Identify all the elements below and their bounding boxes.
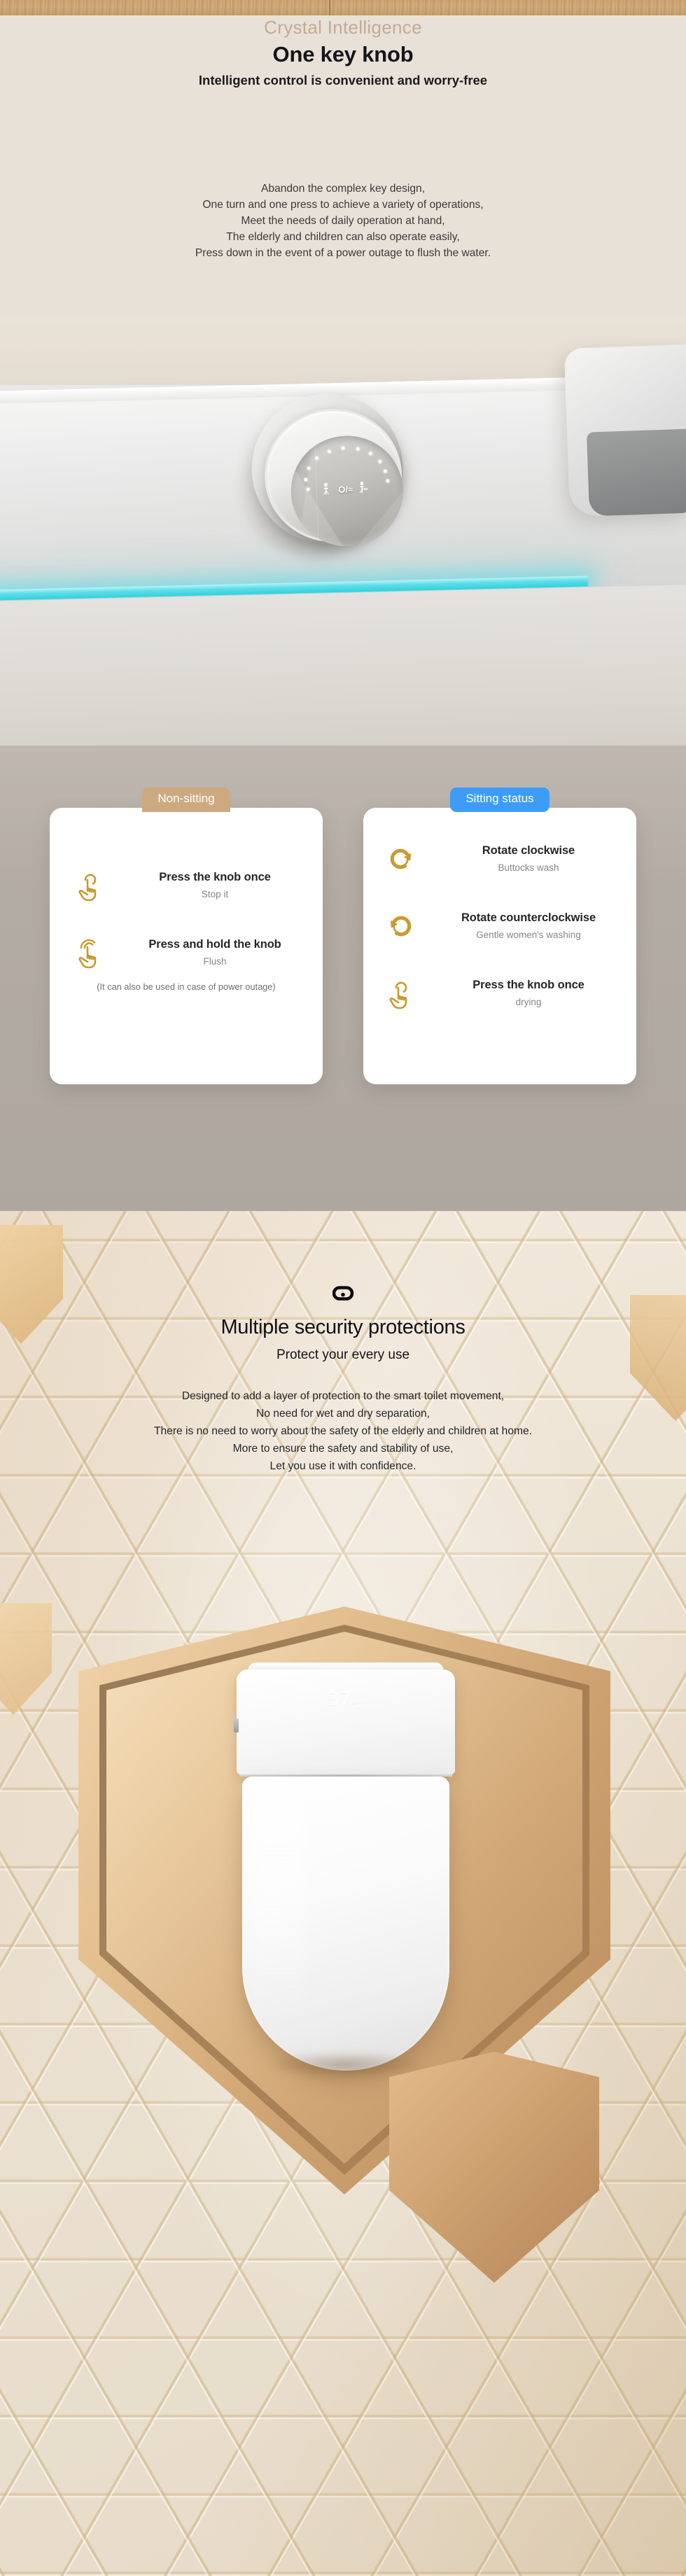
- knob-center-label: O/≈: [338, 484, 353, 495]
- press-and-hold-finger-icon: [68, 935, 113, 970]
- power-outage-note: (It can also be used in case of power ou…: [68, 981, 304, 992]
- security-section: Multiple security protections Protect yo…: [0, 1211, 686, 2576]
- wood-floor-strip: [0, 0, 686, 15]
- instruction-subtitle: drying: [436, 997, 621, 1007]
- paragraph-line: No need for wet and dry separation,: [0, 1405, 686, 1422]
- lower-wall: [0, 584, 686, 745]
- instruction-text: Press the knob once Stop it: [125, 871, 304, 899]
- instruction-text: Press and hold the knob Flush: [125, 938, 304, 967]
- paragraph-line: Abandon the complex key design,: [0, 181, 686, 197]
- knob-assembly[interactable]: O/≈: [220, 385, 415, 566]
- instruction-row: Rotate clockwise Buttocks wash: [379, 841, 621, 876]
- instruction-row: Press and hold the knob Flush: [68, 935, 304, 970]
- paragraph-line: One turn and one press to achieve a vari…: [0, 197, 686, 213]
- seated-person-spray-icon: [322, 482, 333, 497]
- eyebrow-text: Crystal Intelligence: [0, 17, 686, 38]
- instruction-title: Rotate counterclockwise: [436, 911, 621, 925]
- press-once-finger-icon: [68, 868, 113, 903]
- non-sitting-card-column: Non-sitting: [50, 787, 323, 1084]
- knob-led-dot: [307, 466, 311, 470]
- toilet-side-button[interactable]: [234, 1718, 239, 1732]
- seated-person-wash-icon: [358, 481, 372, 496]
- security-title: Multiple security protections: [0, 1316, 686, 1339]
- temperature-value: 37: [328, 1689, 353, 1710]
- knob-led-dot: [369, 451, 372, 455]
- knob-face[interactable]: O/≈: [289, 434, 405, 548]
- cards-row: Non-sitting: [0, 787, 686, 1084]
- temperature-display: 37℃: [237, 1689, 455, 1710]
- rotate-clockwise-icon: [379, 841, 423, 876]
- instruction-title: Press the knob once: [125, 871, 304, 884]
- instruction-subtitle: Gentle women's washing: [436, 930, 621, 940]
- press-once-finger-icon: [379, 976, 423, 1011]
- paragraph-line: Press down in the event of a power outag…: [0, 245, 686, 261]
- instruction-row: Press the knob once drying: [379, 976, 621, 1011]
- security-paragraph: Designed to add a layer of protection to…: [0, 1387, 686, 1475]
- toilet-body-panel-dark: [587, 428, 686, 516]
- paragraph-line: Let you use it with confidence.: [0, 1457, 686, 1475]
- smart-toilet: 37℃: [237, 1669, 455, 2089]
- instruction-row: Rotate counterclockwise Gentle women's w…: [379, 909, 621, 944]
- knob-product-photo: O/≈: [0, 318, 686, 745]
- instruction-title: Press the knob once: [436, 979, 621, 992]
- knob-section: Crystal Intelligence One key knob Intell…: [0, 0, 686, 1211]
- security-subtitle: Protect your every use: [0, 1347, 686, 1363]
- rotate-counterclockwise-icon: [379, 909, 423, 944]
- knob-chrome-ring: O/≈: [262, 407, 405, 545]
- toilet-tank: 37℃: [237, 1669, 455, 1774]
- sitting-status-badge: Sitting status: [450, 787, 549, 812]
- paragraph-line: More to ensure the safety and stability …: [0, 1440, 686, 1457]
- instruction-text: Press the knob once drying: [436, 979, 621, 1007]
- paragraph-line: The elderly and children can also operat…: [0, 229, 686, 245]
- instruction-subtitle: Stop it: [125, 889, 304, 899]
- instruction-row: Press the knob once Stop it: [68, 868, 304, 903]
- instruction-text: Rotate clockwise Buttocks wash: [436, 844, 621, 873]
- shield-illustration: 37℃: [78, 1606, 610, 2215]
- lock-icon: [0, 1284, 686, 1301]
- knob-section-paragraph: Abandon the complex key design, One turn…: [0, 181, 686, 261]
- sitting-status-card: Rotate clockwise Buttocks wash: [363, 808, 636, 1084]
- temperature-unit: ℃: [353, 1700, 363, 1710]
- product-page: Crystal Intelligence One key knob Intell…: [0, 0, 686, 2576]
- instruction-text: Rotate counterclockwise Gentle women's w…: [436, 911, 621, 940]
- non-sitting-card: Press the knob once Stop it: [50, 808, 323, 1084]
- paragraph-line: There is no need to worry about the safe…: [0, 1422, 686, 1440]
- instruction-subtitle: Buttocks wash: [436, 862, 621, 873]
- instruction-title: Press and hold the knob: [125, 938, 304, 951]
- paragraph-line: Meet the needs of daily operation at han…: [0, 213, 686, 229]
- toilet-gloss-highlight: [255, 1795, 304, 2026]
- non-sitting-badge: Non-sitting: [142, 787, 230, 812]
- instruction-title: Rotate clockwise: [436, 844, 621, 857]
- paragraph-line: Designed to add a layer of protection to…: [0, 1387, 686, 1405]
- knob-section-title: One key knob: [0, 42, 686, 67]
- knob-section-subtitle: Intelligent control is convenient and wo…: [0, 73, 686, 88]
- operation-cards-band: Non-sitting: [0, 745, 686, 1211]
- instruction-subtitle: Flush: [125, 956, 304, 967]
- sitting-status-card-column: Sitting status Rotate c: [363, 787, 636, 1084]
